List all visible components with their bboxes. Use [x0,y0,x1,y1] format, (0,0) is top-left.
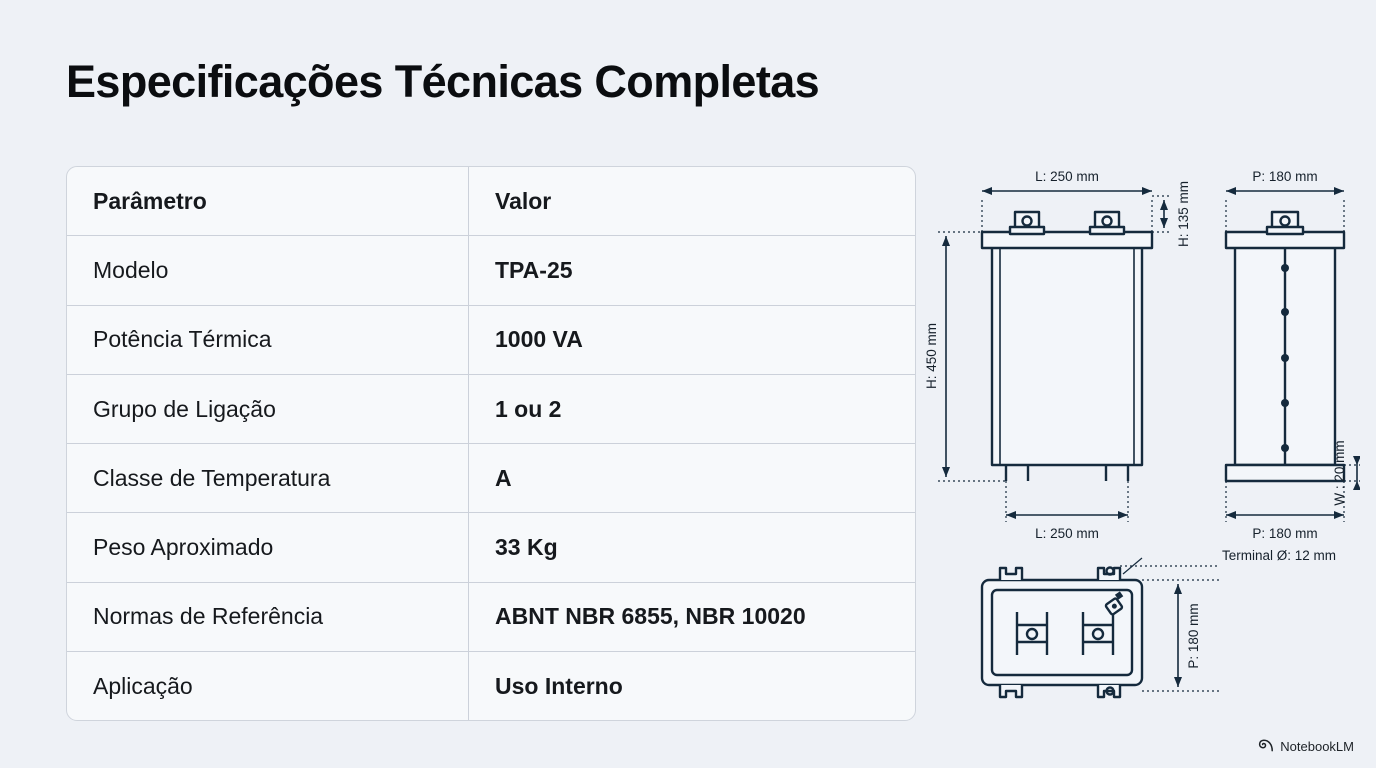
side-view-bottom-depth-label: P: 180 mm [1252,526,1317,541]
front-view-terminal-height-label: H: 135 mm [1176,181,1191,247]
top-view-terminal-label: Terminal Ø: 12 mm [1222,548,1336,563]
slide-canvas: Especificações Técnicas Completas Parâme… [0,0,1376,768]
front-view-drawing [982,212,1152,481]
table-row: Potência Térmica 1000 VA [67,306,915,375]
top-view-depth-label: P: 180 mm [1186,603,1201,668]
front-view-height-label: H: 450 mm [924,323,939,389]
row-value-classe-de-temperatura: A [469,444,915,512]
table-row: Modelo TPA-25 [67,236,915,305]
column-header-parameter: Parâmetro [67,167,469,235]
front-view-bottom-width-label: L: 250 mm [1035,526,1099,541]
side-view-drawing [1226,212,1344,481]
row-parameter-peso-aproximado: Peso Aproximado [67,513,469,581]
technical-drawings: L: 250 mm L: 250 mm H: 450 mm H: 135 mm … [920,150,1360,730]
row-value-grupo-de-ligacao: 1 ou 2 [469,375,915,443]
row-parameter-grupo-de-ligacao: Grupo de Ligação [67,375,469,443]
row-parameter-classe-de-temperatura: Classe de Temperatura [67,444,469,512]
page-title: Especificações Técnicas Completas [66,56,819,108]
row-value-aplicacao: Uso Interno [469,652,915,720]
row-value-potencia-termica: 1000 VA [469,306,915,374]
table-row: Grupo de Ligação 1 ou 2 [67,375,915,444]
row-value-normas-de-referencia: ABNT NBR 6855, NBR 10020 [469,583,915,651]
row-parameter-modelo: Modelo [67,236,469,304]
row-value-peso-aproximado: 33 Kg [469,513,915,581]
side-view-base-label: W : 20 mm [1332,440,1347,505]
table-header-row: Parâmetro Valor [67,167,915,236]
row-parameter-aplicacao: Aplicação [67,652,469,720]
top-view-drawing [982,568,1142,698]
table-row: Classe de Temperatura A [67,444,915,513]
front-view-top-width-label: L: 250 mm [1035,169,1099,184]
notebooklm-watermark: NotebookLM [1258,738,1354,754]
row-parameter-normas-de-referencia: Normas de Referência [67,583,469,651]
table-row: Normas de Referência ABNT NBR 6855, NBR … [67,583,915,652]
specifications-table: Parâmetro Valor Modelo TPA-25 Potência T… [66,166,916,721]
table-row: Aplicação Uso Interno [67,652,915,720]
table-row: Peso Aproximado 33 Kg [67,513,915,582]
column-header-value: Valor [469,167,915,235]
row-value-modelo: TPA-25 [469,236,915,304]
notebooklm-spiral-icon [1258,738,1274,754]
row-parameter-potencia-termica: Potência Térmica [67,306,469,374]
side-view-top-depth-label: P: 180 mm [1252,169,1317,184]
notebooklm-label: NotebookLM [1280,739,1354,754]
